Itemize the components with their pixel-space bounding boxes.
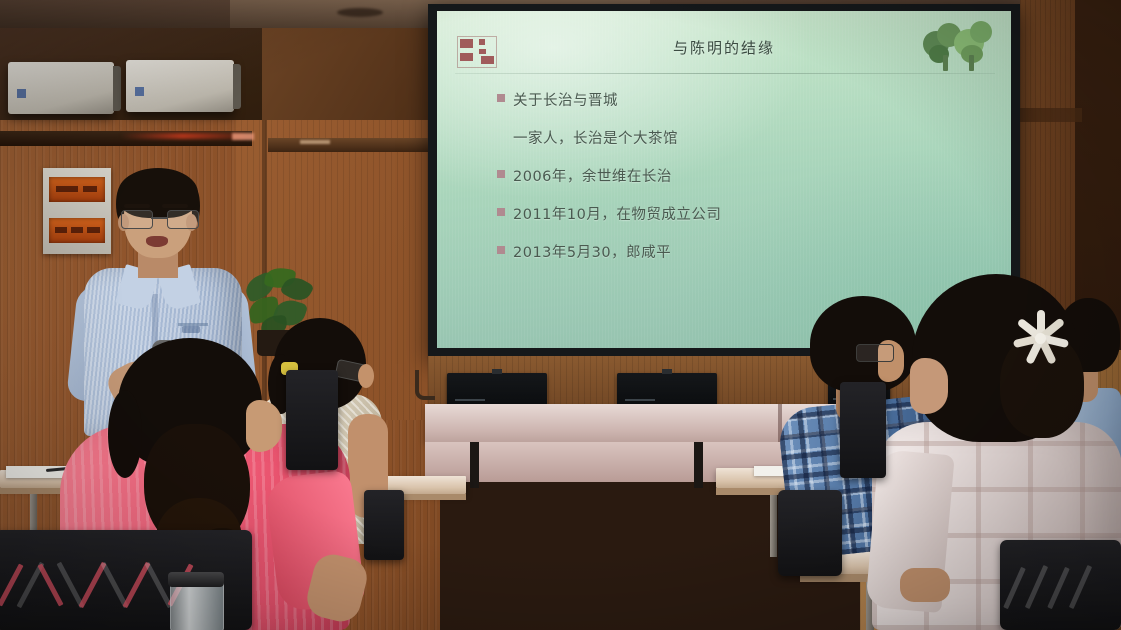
water-bottle-cap	[168, 572, 224, 587]
chair-mid	[286, 370, 338, 470]
slide-bullet-item: 一家人，长治是个大茶馆	[497, 127, 981, 148]
unit-side	[113, 66, 121, 111]
slide-bullet-item: 2013年5月30，郎咸平	[497, 241, 981, 262]
bullet-square-icon	[497, 208, 505, 216]
desk-leg	[770, 495, 777, 557]
wall-light-reflection	[120, 133, 245, 139]
unit-badge-icon	[17, 89, 26, 98]
wall-hook	[415, 370, 435, 400]
slide-bullet-item: 2011年10月，在物贸成立公司	[497, 203, 981, 224]
chair-right-back	[840, 382, 886, 478]
slide-bullet-item: 关于长治与晋城	[497, 89, 981, 110]
wall-trim-highlight	[300, 140, 330, 144]
bullet-square-icon	[497, 170, 505, 178]
bullet-square-icon	[497, 132, 505, 140]
desk-monitor	[617, 373, 717, 407]
cheek	[358, 364, 374, 388]
shirt-logo	[182, 326, 200, 333]
mouth	[146, 236, 168, 247]
flower-hairpin	[1012, 310, 1070, 368]
chair-mid-front	[364, 490, 404, 560]
tree-foliage-graphic	[921, 19, 993, 74]
wall-trim-center	[268, 138, 440, 152]
slide-bullet-item: 2006年，余世维在长治	[497, 165, 981, 186]
eyebrow-left	[124, 204, 150, 208]
counter-leg	[694, 442, 703, 488]
conference-room-photo: 与陈明的结缘 关于长治与晋城	[0, 0, 1121, 630]
unit-badge-icon	[135, 87, 144, 96]
bullet-text: 2013年5月30，郎咸平	[513, 241, 671, 262]
hair-side-left	[108, 390, 142, 478]
bullet-text: 关于长治与晋城	[513, 89, 618, 110]
unit-side	[233, 64, 241, 109]
bullet-text: 2011年10月，在物贸成立公司	[513, 203, 721, 224]
chair-front-right	[1000, 540, 1121, 630]
eyeglasses-icon	[121, 210, 197, 227]
bullet-square-icon	[497, 94, 505, 102]
bullet-square-icon	[497, 246, 505, 254]
ceiling-vent	[337, 8, 383, 17]
air-conditioner-unit-left	[8, 62, 114, 114]
air-conditioner-unit-right	[126, 60, 234, 112]
chair-right-front	[778, 490, 842, 576]
bullet-text: 一家人，长治是个大茶馆	[513, 127, 678, 148]
eyebrow-right	[162, 204, 188, 208]
cheek	[910, 358, 948, 414]
wall-trim-right	[1020, 108, 1082, 122]
bullet-text: 2006年，余世维在长治	[513, 165, 672, 186]
slide-title-divider	[455, 73, 995, 74]
counter-leg	[470, 442, 479, 488]
desk-leg	[30, 494, 37, 534]
wall-light-spot	[232, 133, 254, 140]
slide-bullet-list: 关于长治与晋城 一家人，长治是个大茶馆 2006年，余世维在长治 2011年10…	[497, 89, 981, 279]
hand	[900, 568, 950, 602]
desk-monitor	[447, 373, 547, 407]
